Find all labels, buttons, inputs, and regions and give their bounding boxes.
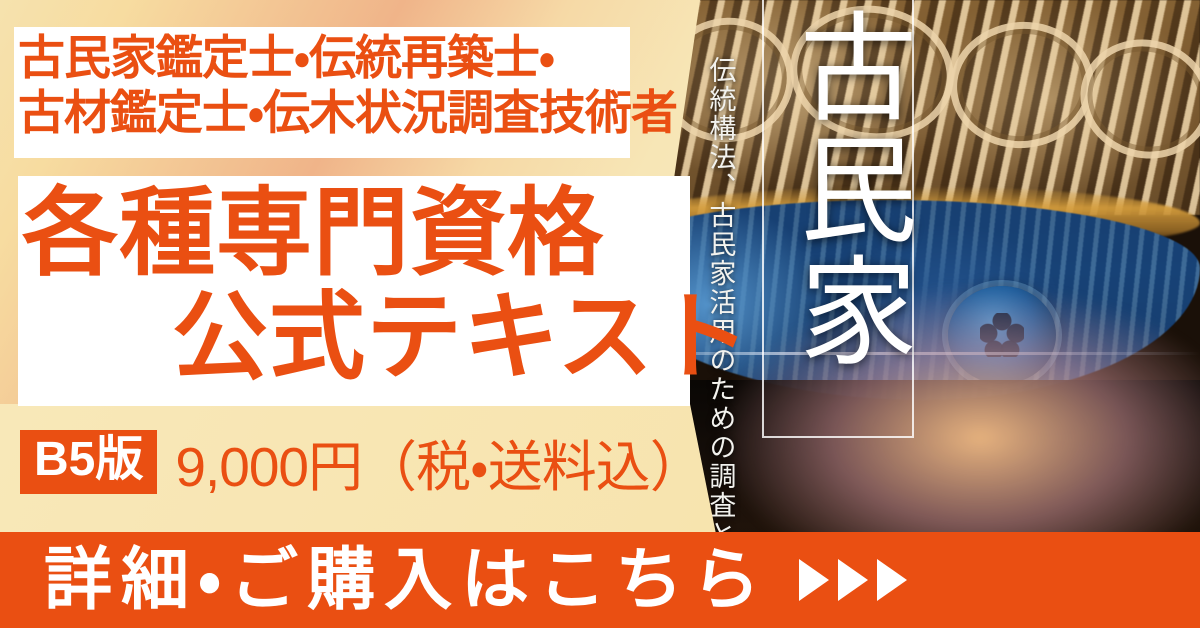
cta-bar[interactable]: 詳細・ご購入はこちら	[0, 532, 1200, 628]
credentials-line-2: 古材鑑定士・伝木状況調査技術者	[18, 85, 718, 140]
headline-line-1: 各種専門資格	[22, 182, 722, 286]
chevron-right-icon	[838, 559, 868, 601]
credentials-text: 古民家鑑定士・伝統再築士・ 古材鑑定士・伝木状況調査技術者	[18, 30, 718, 141]
chevron-right-icon	[877, 559, 907, 601]
headline-line-2: 公式テキスト	[22, 286, 722, 390]
headline-text: 各種専門資格 公式テキスト	[22, 182, 722, 389]
format-badge: B5版	[20, 430, 157, 494]
promo-banner: 伝統構法、古民家活用のための調査と再生の 古民家 古民家鑑定士・伝統再築士・ 古…	[0, 0, 1200, 628]
cta-label: 詳細・ご購入はこちら	[44, 546, 769, 614]
chevron-right-icon	[799, 559, 829, 601]
book-cover-title: 古民家	[766, 6, 912, 372]
price-label: 9,000円（税・送料込）	[175, 422, 703, 502]
cta-arrows	[799, 559, 907, 601]
credentials-line-1: 古民家鑑定士・伝統再築士・	[18, 30, 718, 85]
price-row: B5版 9,000円（税・送料込）	[20, 422, 704, 502]
